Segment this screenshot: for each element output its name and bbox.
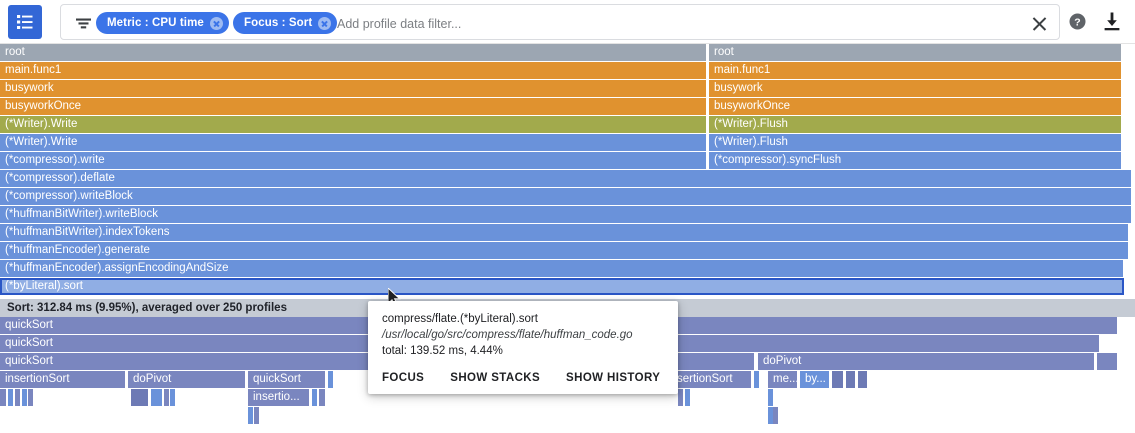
- profile-filter-box[interactable]: Metric : CPU time Focus : Sort Add profi…: [60, 4, 1060, 40]
- filter-chip-focus-label: Focus : Sort: [244, 17, 312, 29]
- tooltip-function-name: compress/flate.(*byLiteral).sort: [382, 312, 664, 327]
- flame-frame-label: (*huffmanEncoder).assignEncodingAndSize: [5, 262, 229, 274]
- flame-frame-label: (*byLiteral).sort: [5, 280, 83, 292]
- filter-chip-metric[interactable]: Metric : CPU time: [96, 12, 229, 34]
- flame-frame[interactable]: root: [709, 44, 1122, 61]
- flame-frame[interactable]: (*byLiteral).sort: [0, 278, 1124, 295]
- flame-frame[interactable]: [685, 389, 691, 406]
- flame-frame[interactable]: busywork: [0, 80, 707, 97]
- flame-frame-label: doPivot: [763, 355, 801, 367]
- flame-frame-label: busyworkOnce: [5, 100, 81, 112]
- tooltip-source-path: /usr/local/go/src/compress/flate/huffman…: [382, 327, 664, 343]
- filter-list-icon[interactable]: [73, 14, 93, 32]
- flame-frame-label: (*compressor).deflate: [5, 172, 115, 184]
- flame-frame[interactable]: (*huffmanBitWriter).indexTokens: [0, 224, 1129, 241]
- flame-frame[interactable]: [15, 389, 21, 406]
- chip-remove-icon[interactable]: [318, 17, 331, 30]
- tooltip-show-history-button[interactable]: SHOW HISTORY: [566, 372, 660, 384]
- flame-frame[interactable]: doPivot: [758, 353, 1095, 370]
- list-view-button[interactable]: [8, 5, 42, 39]
- flame-frame-label: (*Writer).Flush: [714, 136, 788, 148]
- flame-frame-label: insertionSort: [5, 373, 70, 385]
- flame-frame[interactable]: [0, 389, 7, 406]
- flame-frame-label: sertionSort: [677, 373, 733, 385]
- flame-frame[interactable]: (*compressor).writeBlock: [0, 188, 1132, 205]
- flame-frame[interactable]: [131, 389, 149, 406]
- flame-frame[interactable]: (*compressor).syncFlush: [709, 152, 1122, 169]
- flame-frame[interactable]: (*huffmanBitWriter).writeBlock: [0, 206, 1132, 223]
- flame-frame[interactable]: [254, 407, 260, 424]
- flame-frame-label: quickSort: [5, 319, 53, 331]
- flame-frame-label: (*compressor).syncFlush: [714, 154, 841, 166]
- flame-frame[interactable]: (*compressor).deflate: [0, 170, 1132, 187]
- flame-frame-label: quickSort: [5, 337, 53, 349]
- flame-frame[interactable]: root: [0, 44, 707, 61]
- flame-frame-label: (*huffmanBitWriter).indexTokens: [5, 226, 169, 238]
- flame-frame-label: (*huffmanBitWriter).writeBlock: [5, 208, 158, 220]
- flame-frame[interactable]: me...: [768, 371, 798, 388]
- flame-frame-label: (*Writer).Write: [5, 118, 77, 130]
- flame-frame[interactable]: busyworkOnce: [709, 98, 1122, 115]
- flame-frame-label: by...: [805, 373, 826, 385]
- flame-frame[interactable]: [312, 389, 318, 406]
- flame-frame-label: main.func1: [714, 64, 770, 76]
- flame-frame[interactable]: [328, 371, 334, 388]
- flame-frame[interactable]: [319, 389, 326, 406]
- tooltip-show-stacks-button[interactable]: SHOW STACKS: [450, 372, 540, 384]
- flame-frame[interactable]: [678, 389, 684, 406]
- frame-details-tooltip[interactable]: compress/flate.(*byLiteral).sort /usr/lo…: [368, 301, 678, 394]
- svg-text:?: ?: [1074, 16, 1080, 28]
- download-icon[interactable]: [1103, 12, 1121, 36]
- flame-frame[interactable]: [832, 371, 844, 388]
- flame-frame-label: busywork: [5, 82, 54, 94]
- flame-frame[interactable]: [8, 389, 14, 406]
- flame-frame-label: doPivot: [133, 373, 171, 385]
- close-icon[interactable]: [1030, 14, 1049, 33]
- flame-frame-label: insertio...: [253, 391, 300, 403]
- flame-frame[interactable]: busyworkOnce: [0, 98, 707, 115]
- flame-frame-label: (*compressor).write: [5, 154, 105, 166]
- help-icon[interactable]: ?: [1069, 13, 1086, 35]
- flame-frame[interactable]: sertionSort: [672, 371, 752, 388]
- flame-frame[interactable]: [768, 389, 774, 406]
- flame-frame[interactable]: main.func1: [0, 62, 707, 79]
- toolbar: Metric : CPU time Focus : Sort Add profi…: [0, 0, 1135, 44]
- flame-frame[interactable]: [170, 389, 176, 406]
- flame-frame[interactable]: (*Writer).Flush: [709, 134, 1122, 151]
- flame-frame-label: (*compressor).writeBlock: [5, 190, 133, 202]
- flame-frame[interactable]: main.func1: [709, 62, 1122, 79]
- flame-frame[interactable]: [1097, 353, 1118, 370]
- flame-frame[interactable]: (*compressor).write: [0, 152, 707, 169]
- chip-remove-icon[interactable]: [210, 17, 223, 30]
- flame-frame[interactable]: by...: [800, 371, 830, 388]
- flame-frame-label: quickSort: [253, 373, 301, 385]
- filter-input-placeholder[interactable]: Add profile data filter...: [337, 17, 461, 31]
- flame-frame-label: main.func1: [5, 64, 61, 76]
- flame-frame-label: (*huffmanEncoder).generate: [5, 244, 150, 256]
- flame-frame-label: busywork: [714, 82, 763, 94]
- flame-frame[interactable]: (*Writer).Write: [0, 134, 707, 151]
- flame-frame-label: quickSort: [5, 355, 53, 367]
- flame-frame-label: busyworkOnce: [714, 100, 790, 112]
- flame-frame[interactable]: [773, 407, 779, 424]
- filter-chip-metric-label: Metric : CPU time: [107, 17, 204, 29]
- flame-frame[interactable]: [151, 389, 163, 406]
- tooltip-focus-button[interactable]: FOCUS: [382, 372, 424, 384]
- tooltip-total-value: total: 139.52 ms, 4.44%: [382, 343, 664, 359]
- flame-frame[interactable]: doPivot: [128, 371, 246, 388]
- flame-frame-label: (*Writer).Flush: [714, 118, 788, 130]
- flame-frame[interactable]: [858, 371, 868, 388]
- list-view-icon: [16, 13, 34, 31]
- flame-frame[interactable]: busywork: [709, 80, 1122, 97]
- flame-frame[interactable]: (*Writer).Write: [0, 116, 707, 133]
- flame-frame[interactable]: [846, 371, 856, 388]
- flame-frame[interactable]: [754, 371, 760, 388]
- flame-frame[interactable]: (*huffmanEncoder).assignEncodingAndSize: [0, 260, 1124, 277]
- flame-frame-label: (*Writer).Write: [5, 136, 77, 148]
- flame-frame[interactable]: insertio...: [248, 389, 310, 406]
- flame-frame[interactable]: quickSort: [248, 371, 326, 388]
- flame-frame[interactable]: insertionSort: [0, 371, 126, 388]
- flame-frame-label: root: [5, 46, 25, 58]
- flame-frame-label: root: [714, 46, 734, 58]
- tooltip-actions: FOCUS SHOW STACKS SHOW HISTORY: [382, 372, 660, 384]
- flame-frame[interactable]: (*Writer).Flush: [709, 116, 1122, 133]
- flame-frame-label: me...: [773, 373, 798, 385]
- flame-frame[interactable]: (*huffmanEncoder).generate: [0, 242, 1129, 259]
- filter-chip-focus[interactable]: Focus : Sort: [233, 12, 337, 34]
- flame-frame[interactable]: [28, 389, 34, 406]
